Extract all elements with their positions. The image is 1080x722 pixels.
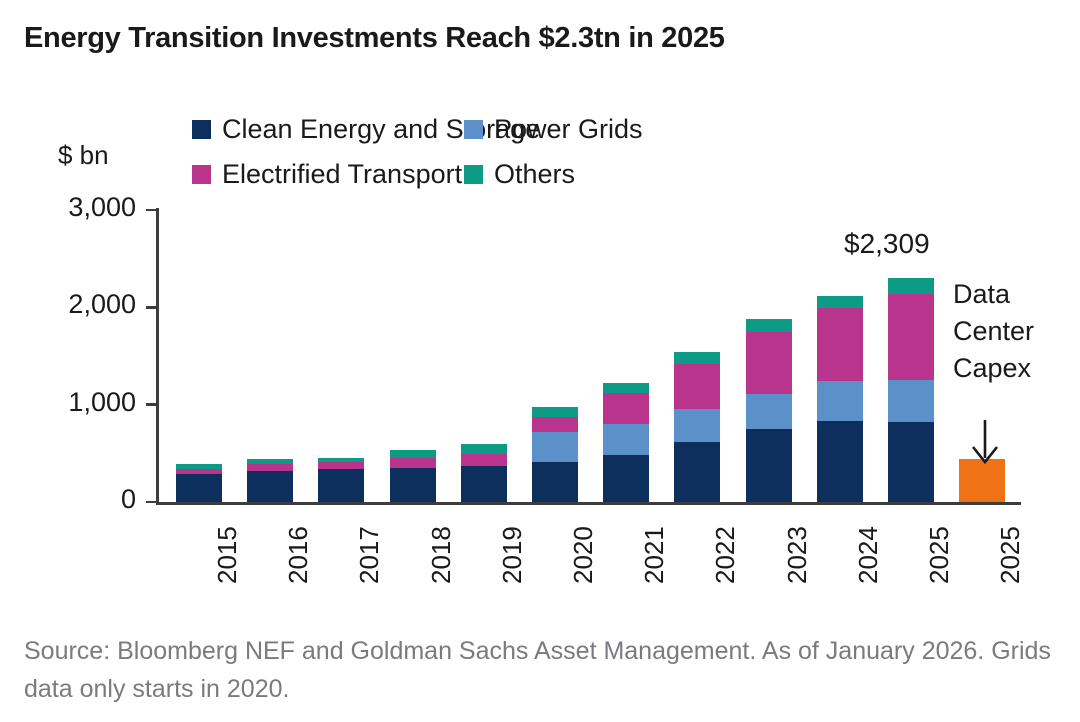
bar-2022[interactable]: [674, 352, 720, 502]
bar-segment-others: [390, 450, 436, 458]
x-axis-tick-label: 2024: [853, 526, 884, 584]
bar-segment-others: [461, 444, 507, 454]
x-axis-tick-label: 2019: [497, 526, 528, 584]
source-note: Source: Bloomberg NEF and Goldman Sachs …: [24, 632, 1054, 708]
x-axis-tick-label: 2020: [568, 526, 599, 584]
bar-segment-power_grids: [746, 394, 792, 429]
bar-segment-clean_energy: [817, 421, 863, 502]
bar-segment-electrified_transport: [746, 332, 792, 394]
bar-segment-clean_energy: [603, 455, 649, 502]
bar-segment-electrified_transport: [247, 464, 293, 471]
bar-2020[interactable]: [532, 407, 578, 502]
x-axis-tick-label: 2025: [995, 526, 1026, 584]
bar-2025[interactable]: [888, 278, 934, 502]
bar-segment-clean_energy: [888, 422, 934, 502]
bar-2021[interactable]: [603, 383, 649, 502]
bar-segment-others: [817, 296, 863, 308]
bar-segment-electrified_transport: [888, 294, 934, 380]
bar-segment-electrified_transport: [532, 417, 578, 432]
bar-segment-electrified_transport: [318, 462, 364, 469]
chart-plot-area: 01,0002,0003,000 20152016201720182019202…: [0, 0, 1080, 722]
bar-segment-electrified_transport: [461, 454, 507, 466]
bar-segment-others: [674, 352, 720, 364]
bar-segment-clean_energy: [390, 468, 436, 502]
bar-segment-power_grids: [674, 409, 720, 442]
bar-2024[interactable]: [817, 296, 863, 502]
bar-segment-power_grids: [603, 424, 649, 455]
bar-segment-others: [888, 278, 934, 294]
down-arrow-icon: [963, 420, 1007, 471]
bar-segment-power_grids: [888, 380, 934, 422]
bar-segment-clean_energy: [674, 442, 720, 502]
x-axis-tick-label: 2015: [212, 526, 243, 584]
bar-segment-clean_energy: [176, 474, 222, 502]
x-axis-tick-label: 2018: [426, 526, 457, 584]
x-axis-tick-label: 2017: [354, 526, 385, 584]
bar-segment-clean_energy: [318, 469, 364, 502]
x-axis-tick-label: 2016: [283, 526, 314, 584]
x-axis-tick-label: 2025: [924, 526, 955, 584]
bar-segment-others: [532, 407, 578, 417]
total-value-label: $2,309: [844, 228, 930, 260]
bar-2023[interactable]: [746, 319, 792, 502]
bar-segment-others: [603, 383, 649, 393]
bar-2015[interactable]: [176, 464, 222, 502]
bar-segment-electrified_transport: [817, 308, 863, 381]
bar-segment-clean_energy: [746, 429, 792, 502]
bar-2017[interactable]: [318, 458, 364, 502]
callout-line-2: Center: [953, 313, 1034, 350]
bar-series-group: [0, 0, 1080, 722]
bar-segment-clean_energy: [247, 471, 293, 502]
bar-2018[interactable]: [390, 450, 436, 502]
x-axis-tick-label: 2021: [639, 526, 670, 584]
callout-line-3: Capex: [953, 350, 1034, 387]
bar-segment-others: [746, 319, 792, 332]
bar-segment-power_grids: [532, 432, 578, 462]
callout-line-1: Data: [953, 276, 1034, 313]
data-center-capex-callout: Data Center Capex: [953, 276, 1034, 387]
x-axis-tick-label: 2022: [710, 526, 741, 584]
bar-segment-electrified_transport: [390, 458, 436, 468]
x-axis-tick-label: 2023: [782, 526, 813, 584]
bar-segment-electrified_transport: [674, 364, 720, 409]
bar-segment-power_grids: [817, 381, 863, 421]
bar-segment-electrified_transport: [603, 393, 649, 424]
bar-segment-clean_energy: [532, 462, 578, 502]
bar-2016[interactable]: [247, 459, 293, 502]
bar-2019[interactable]: [461, 444, 507, 502]
bar-segment-clean_energy: [461, 466, 507, 502]
